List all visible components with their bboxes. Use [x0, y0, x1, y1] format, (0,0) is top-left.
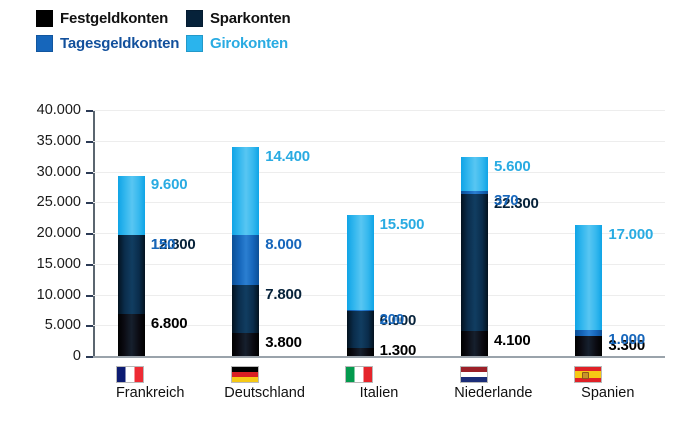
legend-label-sparkonten: Sparkonten [210, 10, 291, 27]
legend-row-2: Tagesgeldkonten Girokonten [36, 35, 366, 60]
legend-item-tagesgeldkonten: Tagesgeldkonten [36, 35, 186, 52]
value-label-festgeld: 4.100 [494, 332, 531, 349]
y-axis-tick-label: 5.000 [9, 317, 81, 333]
y-axis-tick [86, 233, 93, 235]
y-axis-tick [86, 110, 93, 112]
x-axis-category-label: Niederlande [436, 385, 550, 401]
x-axis-category-niederlande: Niederlande [436, 362, 550, 401]
y-axis-tick [86, 141, 93, 143]
value-label-tagesgeld: 370 [494, 192, 518, 209]
y-axis-tick [86, 295, 93, 297]
flag-icon-deutschland [231, 366, 259, 383]
legend-swatch-festgeldkonten [36, 10, 53, 27]
bar-segment-tagesgeld[interactable] [461, 191, 488, 193]
legend-swatch-girokonten [186, 35, 203, 52]
value-label-spar: 7.800 [265, 286, 302, 303]
value-label-giro: 17.000 [608, 226, 653, 243]
flag-icon-italien [345, 366, 373, 383]
value-label-tagesgeld: 200 [380, 311, 404, 328]
bar-segment-spar[interactable] [347, 311, 374, 348]
y-axis-tick-label: 25.000 [9, 194, 81, 210]
value-label-tagesgeld: 1.000 [608, 331, 645, 348]
value-label-giro: 9.600 [151, 176, 188, 193]
value-label-festgeld: 1.300 [380, 342, 417, 359]
bar-group-frankreich[interactable] [118, 110, 145, 356]
bar-segment-giro[interactable] [232, 147, 259, 236]
y-axis-tick-label: 20.000 [9, 225, 81, 241]
flag-icon-niederlande [460, 366, 488, 383]
bar-segment-spar[interactable] [118, 235, 145, 314]
bar-segment-giro[interactable] [461, 157, 488, 191]
value-label-giro: 5.600 [494, 158, 531, 175]
bar-segment-festgeld[interactable] [347, 348, 374, 356]
bar-segment-tagesgeld[interactable] [232, 235, 259, 284]
x-axis-category-label: Italien [322, 385, 436, 401]
bar-segment-giro[interactable] [118, 176, 145, 235]
bar-group-spanien[interactable] [575, 110, 602, 356]
x-axis-category-label: Frankreich [93, 385, 207, 401]
value-label-tagesgeld: 150 [151, 236, 175, 253]
legend-item-festgeldkonten: Festgeldkonten [36, 10, 186, 27]
legend-swatch-sparkonten [186, 10, 203, 27]
value-label-giro: 14.400 [265, 148, 310, 165]
value-label-tagesgeld: 8.000 [265, 236, 302, 253]
bar-segment-festgeld[interactable] [232, 333, 259, 356]
bar-segment-tagesgeld[interactable] [575, 330, 602, 336]
bar-segment-giro[interactable] [347, 215, 374, 310]
bar-group-italien[interactable] [347, 110, 374, 356]
plot-area: 6.80012.8001509.6003.8007.8008.00014.400… [93, 110, 665, 356]
bar-segment-spar[interactable] [232, 285, 259, 333]
x-axis-category-label: Spanien [551, 385, 665, 401]
y-axis-tick [86, 264, 93, 266]
flag-icon-spanien [574, 366, 602, 383]
legend-item-sparkonten: Sparkonten [186, 10, 291, 27]
x-axis-category-italien: Italien [322, 362, 436, 401]
y-axis-tick-label: 0 [9, 348, 81, 364]
y-axis-tick-label: 35.000 [9, 133, 81, 149]
legend-item-girokonten: Girokonten [186, 35, 288, 52]
legend-label-festgeldkonten: Festgeldkonten [60, 10, 168, 27]
legend-swatch-tagesgeldkonten [36, 35, 53, 52]
legend-label-girokonten: Girokonten [210, 35, 288, 52]
x-axis-category-spanien: Spanien [551, 362, 665, 401]
y-axis-tick [86, 356, 93, 358]
y-axis-tick [86, 172, 93, 174]
bar-segment-festgeld[interactable] [118, 314, 145, 356]
bar-group-deutschland[interactable] [232, 110, 259, 356]
value-label-festgeld: 3.800 [265, 334, 302, 351]
y-axis-tick [86, 202, 93, 204]
bar-segment-giro[interactable] [575, 225, 602, 330]
bar-segment-spar[interactable] [461, 194, 488, 331]
bar-segment-festgeld[interactable] [575, 336, 602, 356]
legend-row-1: Festgeldkonten Sparkonten [36, 10, 366, 35]
x-axis-category-deutschland: Deutschland [207, 362, 321, 401]
bar-segment-tagesgeld[interactable] [118, 235, 145, 236]
bar-segment-festgeld[interactable] [461, 331, 488, 356]
bar-group-niederlande[interactable] [461, 110, 488, 356]
bar-segment-tagesgeld[interactable] [347, 310, 374, 311]
legend-label-tagesgeldkonten: Tagesgeldkonten [60, 35, 179, 52]
y-axis-tick-label: 10.000 [9, 287, 81, 303]
chart-legend: Festgeldkonten Sparkonten Tagesgeldkonte… [36, 10, 366, 60]
y-axis-tick-label: 30.000 [9, 164, 81, 180]
value-label-festgeld: 6.800 [151, 315, 188, 332]
y-axis-tick-label: 40.000 [9, 102, 81, 118]
value-label-giro: 15.500 [380, 216, 425, 233]
y-axis-tick-label: 15.000 [9, 256, 81, 272]
x-axis-category-frankreich: Frankreich [93, 362, 207, 401]
x-axis-category-label: Deutschland [207, 385, 321, 401]
y-axis-tick [86, 325, 93, 327]
flag-icon-frankreich [116, 366, 144, 383]
